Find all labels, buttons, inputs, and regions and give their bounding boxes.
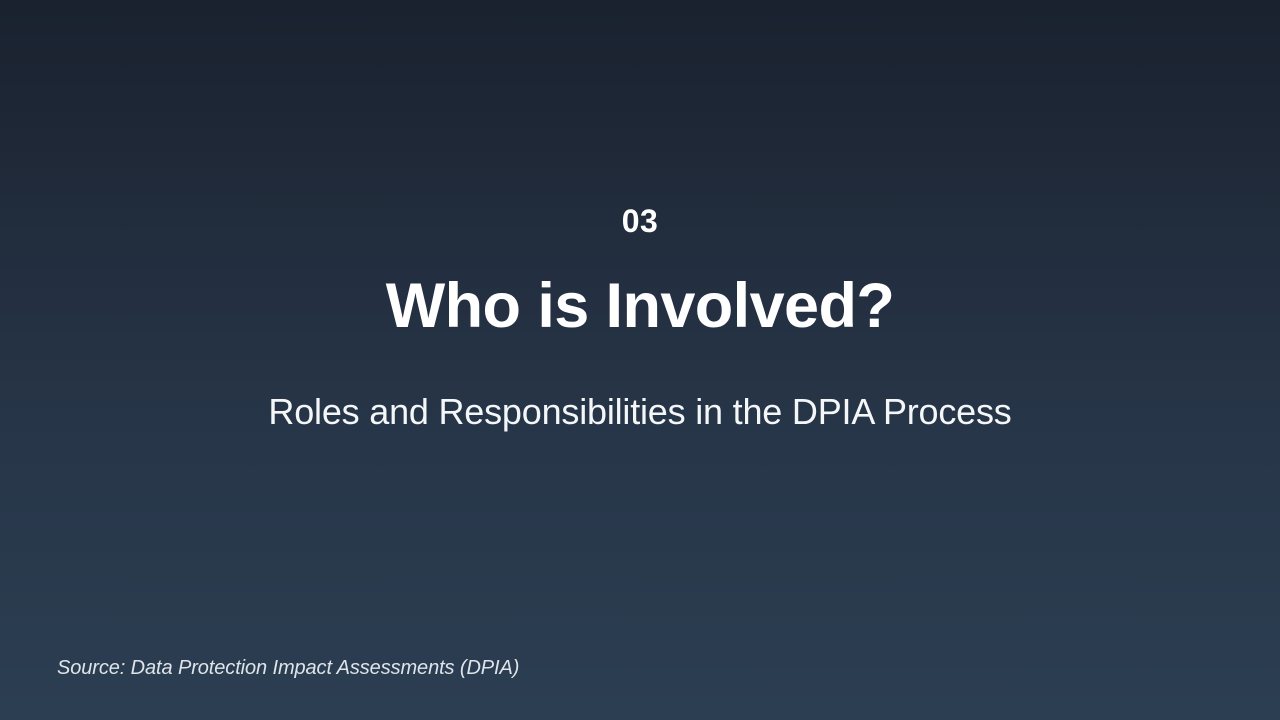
presentation-slide: 03 Who is Involved? Roles and Responsibi…	[0, 0, 1280, 720]
section-number: 03	[622, 205, 658, 239]
source-attribution: Source: Data Protection Impact Assessmen…	[57, 656, 519, 680]
slide-subtitle: Roles and Responsibilities in the DPIA P…	[268, 340, 1011, 433]
slide-title: Who is Involved?	[386, 239, 894, 340]
title-block: 03 Who is Involved? Roles and Responsibi…	[0, 205, 1280, 433]
